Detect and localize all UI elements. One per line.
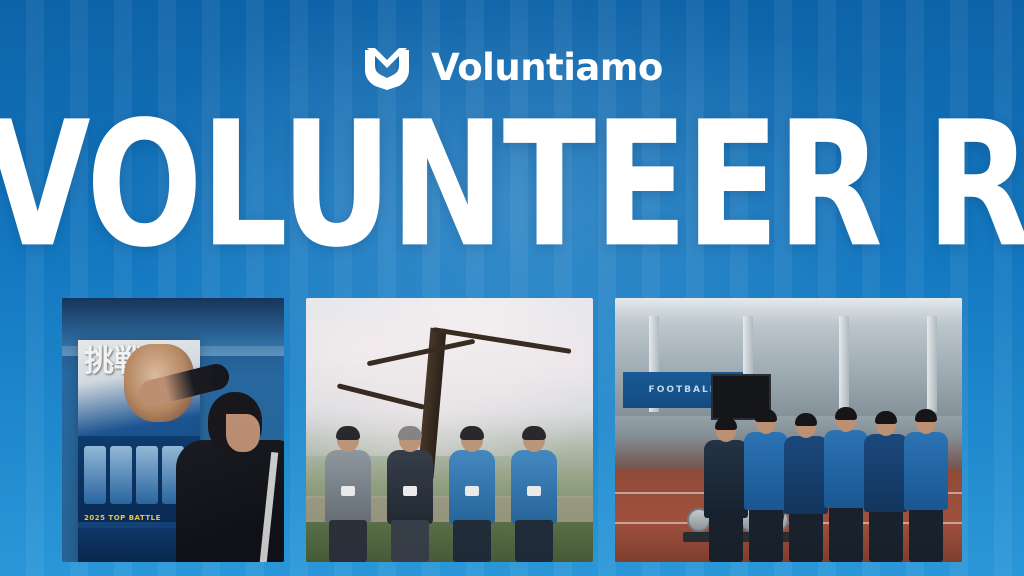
poster-canvas: Voluntiamo VOLUNTEER RECRUITMENT 挑戦 2025…: [0, 0, 1024, 576]
photo-poster-hanging: 挑戦 2025 TOP BATTLE: [62, 298, 284, 562]
photo1-poster-tagline: 2025 TOP BATTLE: [84, 514, 161, 522]
photo-strip: 挑戦 2025 TOP BATTLE: [62, 298, 962, 562]
brand-logo: Voluntiamo: [0, 44, 1024, 90]
photo3-athlete-group: [702, 386, 962, 562]
photo3-roof: [615, 298, 962, 324]
photo2-volunteer-group: [320, 426, 582, 562]
heart-shield-logo-icon: [361, 44, 413, 90]
photo-stadium-team: FOOTBALL: [615, 298, 962, 562]
brand-name: Voluntiamo: [431, 49, 663, 86]
photo1-person: [172, 364, 284, 562]
photo-cherry-blossom-group: [306, 298, 593, 562]
page-title: VOLUNTEER RECRUITMENT: [0, 104, 1024, 270]
